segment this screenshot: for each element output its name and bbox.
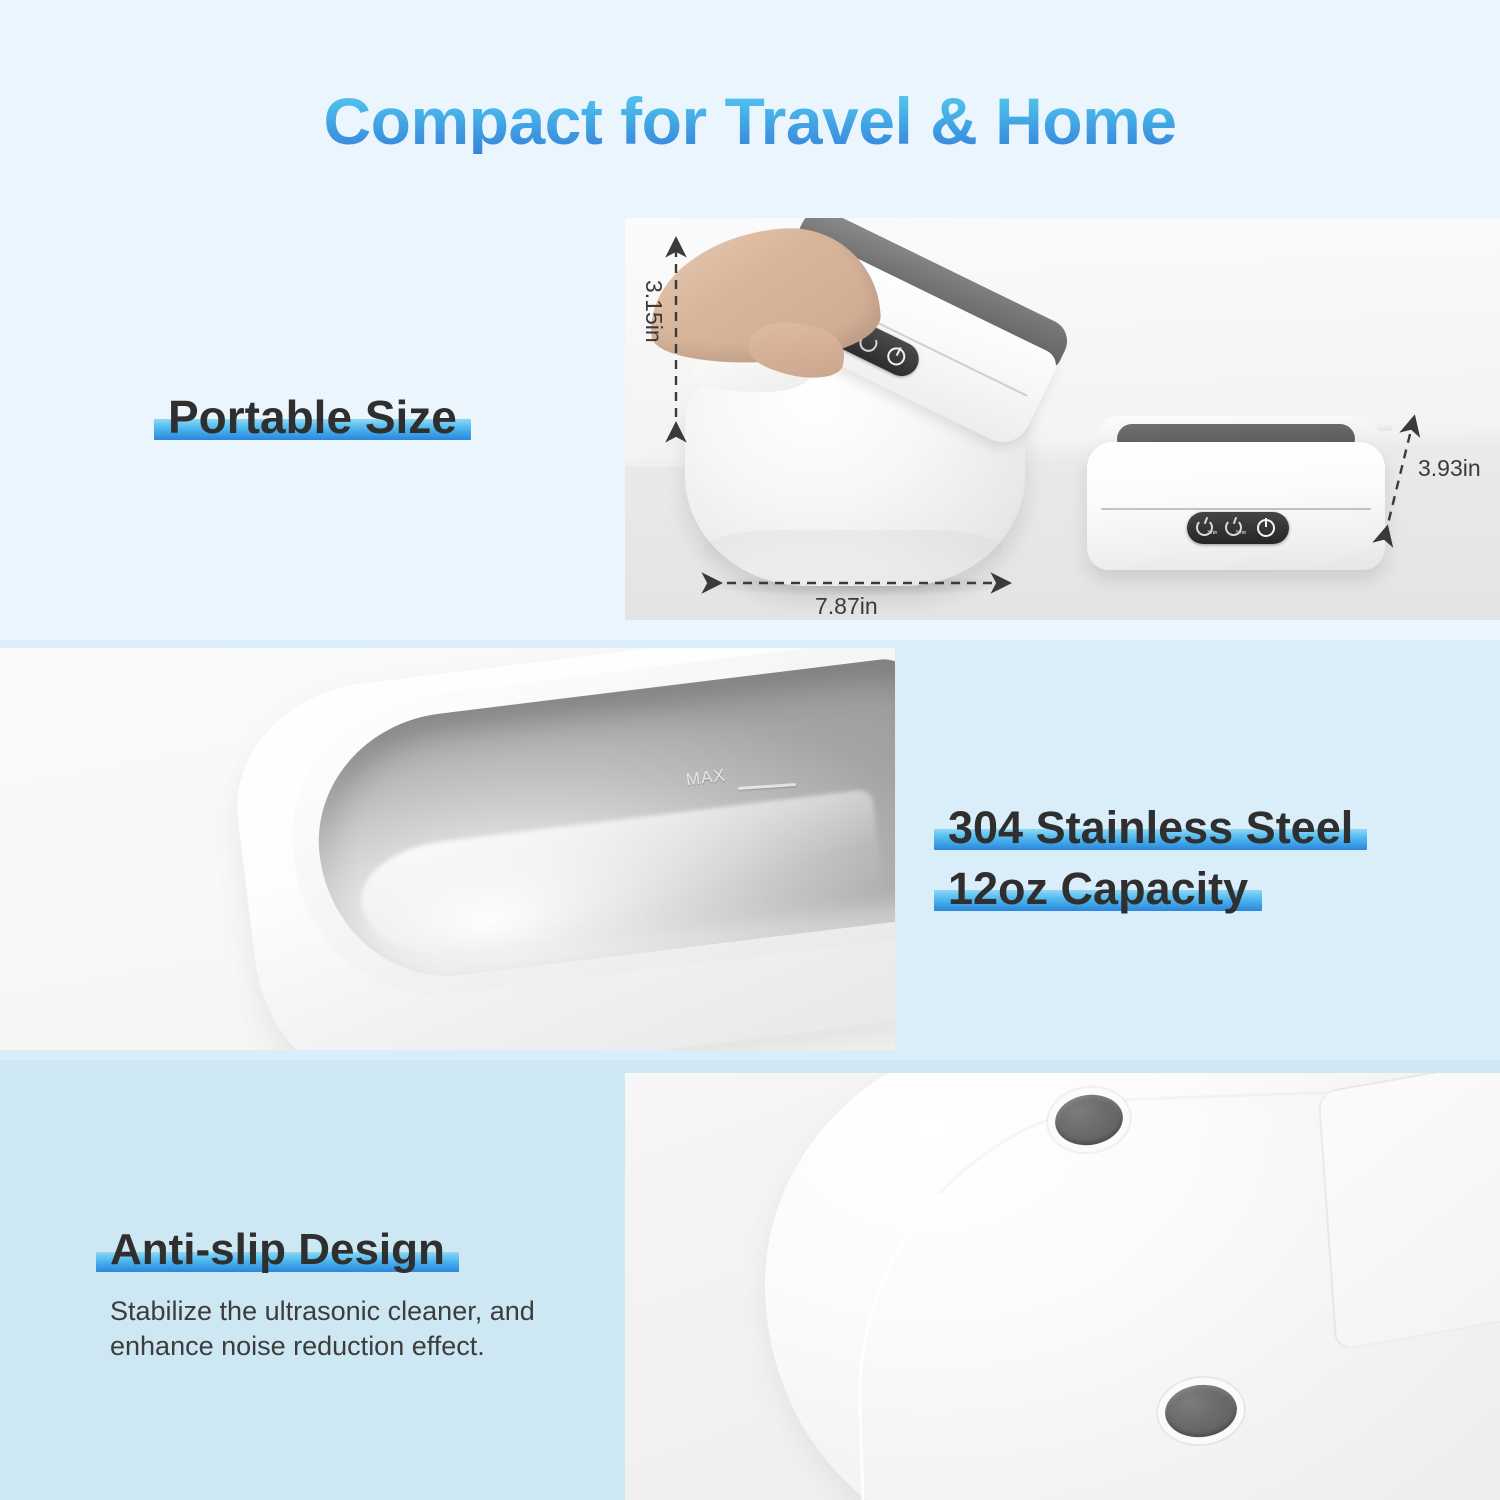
- dimension-lines: [625, 218, 1500, 620]
- feature-steel-heading-line2: 12oz Capacity: [948, 866, 1248, 911]
- feature-portable-size: Portable Size: [168, 394, 457, 440]
- feature-antislip-heading: Anti-slip Design: [110, 1228, 445, 1272]
- dimension-width-label: 7.87in: [815, 593, 878, 620]
- feature-steel-heading-line1: 304 Stainless Steel: [948, 805, 1353, 850]
- feature-portable-heading: Portable Size: [168, 394, 457, 440]
- photo-antislip-base: [625, 1073, 1500, 1500]
- infographic-page: Compact for Travel & Home: [0, 0, 1500, 1500]
- feature-stainless-steel: 304 Stainless Steel 12oz Capacity: [948, 805, 1353, 911]
- dimension-depth-label: 3.93in: [1418, 455, 1481, 482]
- underside-plate: [1318, 1073, 1500, 1351]
- photo-portable-size: 3min 5min 3.15in 7.87in 3.93in: [625, 218, 1500, 620]
- description-line-2: enhance noise reduction effect.: [110, 1329, 535, 1364]
- feature-antislip-design: Anti-slip Design Stabilize the ultrasoni…: [110, 1228, 535, 1363]
- dimension-height-label: 3.15in: [640, 280, 667, 343]
- device-underside: [765, 1073, 1500, 1500]
- photo-stainless-tank: MAX: [0, 648, 895, 1050]
- page-title: Compact for Travel & Home: [0, 88, 1500, 154]
- feature-antislip-description: Stabilize the ultrasonic cleaner, and en…: [110, 1294, 535, 1363]
- description-line-1: Stabilize the ultrasonic cleaner, and: [110, 1294, 535, 1329]
